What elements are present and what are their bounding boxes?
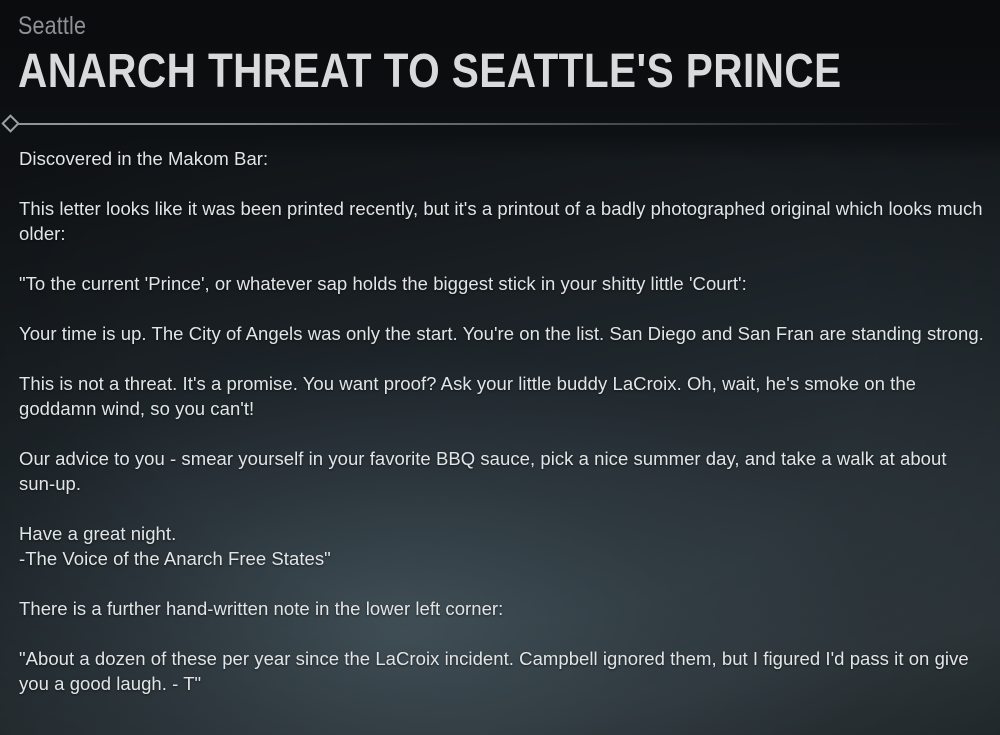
location-eyebrow: Seattle <box>18 11 863 41</box>
body-paragraph: Our advice to you - smear yourself in yo… <box>19 446 985 496</box>
body-paragraph: Discovered in the Makom Bar: <box>19 146 985 171</box>
body-paragraph: Your time is up. The City of Angels was … <box>19 321 985 346</box>
divider-rule <box>18 123 968 125</box>
diamond-outline-icon <box>1 114 19 132</box>
body-paragraph: There is a further hand-written note in … <box>19 596 985 621</box>
body-paragraph: This is not a threat. It's a promise. Yo… <box>19 371 985 421</box>
body-paragraph: This letter looks like it was been print… <box>19 196 985 246</box>
entry-body: Discovered in the Makom Bar:This letter … <box>19 146 985 696</box>
title-divider <box>0 114 1000 134</box>
body-paragraph: "To the current 'Prince', or whatever sa… <box>19 271 985 296</box>
body-paragraph: "About a dozen of these per year since t… <box>19 646 985 696</box>
page-title: Anarch Threat to Seattle's Prince <box>18 43 848 101</box>
body-paragraph: Have a great night.-The Voice of the Ana… <box>19 521 985 571</box>
lore-entry-screen: Seattle Anarch Threat to Seattle's Princ… <box>0 0 1000 735</box>
